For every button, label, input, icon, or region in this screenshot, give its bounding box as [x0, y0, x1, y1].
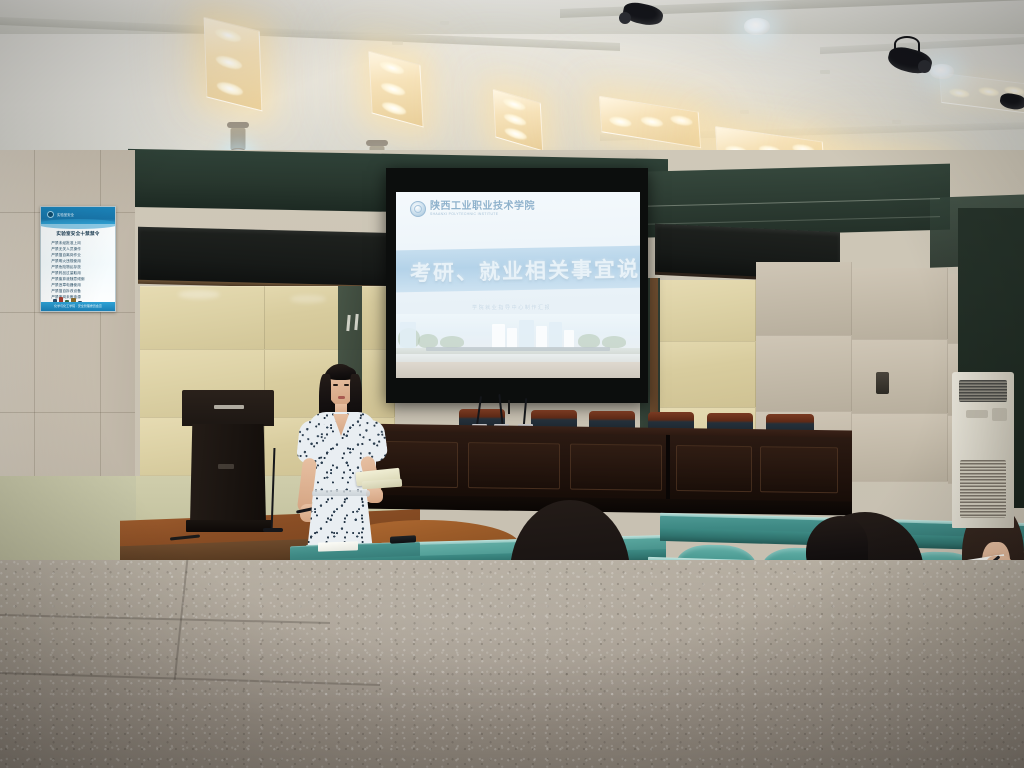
- poster-rule: 严禁擅自离岗作业: [51, 253, 81, 258]
- presenter-sleeve-right: [357, 418, 389, 463]
- slide-logo: 陕西工业职业技术学院 SHAANXI POLYTECHNIC INSTITUTE: [410, 201, 535, 217]
- podium-plate: [218, 464, 234, 469]
- slide-campus-image: [396, 314, 640, 362]
- ac-logo: [966, 410, 988, 418]
- wall-panel: [265, 286, 395, 350]
- poster-footer: 化学与化工学院 · 安全管理委员会宣: [41, 302, 115, 311]
- podium-handle: [214, 405, 244, 409]
- presentation-slide: 陕西工业职业技术学院 SHAANXI POLYTECHNIC INSTITUTE…: [396, 192, 640, 378]
- podium-base: [186, 520, 272, 532]
- ceiling-downlight: [744, 18, 770, 35]
- desk-paper: [318, 541, 358, 551]
- wall-stone: [852, 340, 948, 414]
- university-emblem-icon: [410, 201, 426, 217]
- ceiling-light-panel: [493, 89, 543, 152]
- screen-mount: [508, 400, 510, 414]
- poster-header-text: 实验室安全: [57, 212, 74, 217]
- wall-stone: [756, 262, 852, 336]
- poster-rule: 严禁擅自拆改设备: [51, 289, 81, 294]
- wall-stone: [852, 268, 948, 340]
- poster-rule: 严禁药品过量取用: [51, 271, 81, 276]
- spotlight-icon: [617, 0, 665, 34]
- poster-rule: 严禁明火违规使用: [51, 259, 81, 264]
- spotlight-icon: [1000, 92, 1024, 114]
- wall-speaker: [876, 372, 889, 394]
- wall-panel: [658, 342, 756, 408]
- poster-rule: 严禁无关人员操作: [51, 247, 81, 252]
- slide-footer-band: [396, 362, 640, 378]
- slide-logo-cn: 陕西工业职业技术学院: [430, 202, 535, 212]
- lecture-hall-photo: 实验室安全 实验室安全十禁禁令 严禁未经批准上岗 严禁无关人员操作 严禁擅自离岗…: [0, 0, 1024, 768]
- poster-logo-icon: [47, 211, 54, 218]
- presenter-papers: [362, 479, 402, 490]
- blackboard-left: [138, 227, 400, 288]
- poster-rule: 严禁危险物乱存放: [51, 265, 81, 270]
- ac-intake-icon: [960, 460, 1006, 518]
- projection-screen: 陕西工业职业技术学院 SHAANXI POLYTECHNIC INSTITUTE…: [386, 168, 648, 403]
- ceiling-light-panel: [204, 17, 263, 112]
- slide-title: 考研、就业相关事宜说明: [410, 253, 640, 288]
- poster-rule: 严禁废弃液随意倾倒: [51, 277, 84, 282]
- poster-title: 实验室安全十禁禁令: [41, 231, 115, 237]
- floor: [0, 560, 1024, 768]
- poster-rule: 严禁未经批准上岗: [51, 241, 81, 246]
- wall-column-left: [0, 150, 135, 490]
- poster-rule: 严禁违章电器使用: [51, 283, 81, 288]
- air-conditioner: [952, 372, 1014, 528]
- wall-stone: [852, 414, 948, 482]
- wall-panel: [658, 280, 756, 342]
- safety-poster: 实验室安全 实验室安全十禁禁令 严禁未经批准上岗 严禁无关人员操作 严禁擅自离岗…: [40, 206, 116, 312]
- podium: [190, 424, 266, 524]
- presidium-table: [352, 431, 852, 506]
- presenter-belt: [312, 490, 370, 497]
- ac-vent-icon: [959, 380, 1007, 402]
- spotlight-icon: [884, 36, 940, 92]
- wall-stone: [756, 336, 852, 412]
- mic-stand-foot: [263, 528, 283, 532]
- slide-logo-en: SHAANXI POLYTECHNIC INSTITUTE: [430, 213, 535, 216]
- ceiling-light-panel: [368, 50, 423, 127]
- slide-subtitle: 学院就业指导中心制作汇报: [472, 304, 551, 311]
- smartphone: [390, 535, 416, 543]
- ac-display: [992, 408, 1007, 421]
